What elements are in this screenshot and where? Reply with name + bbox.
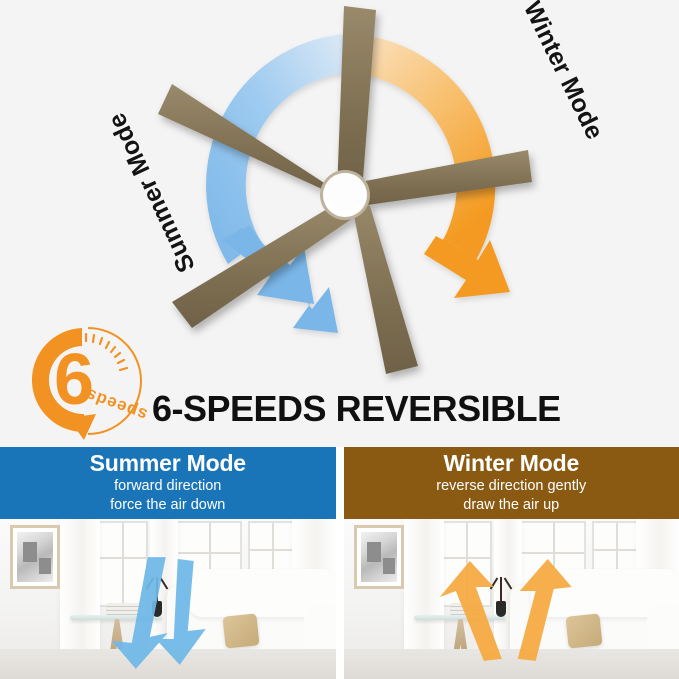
- fan-hub: [320, 170, 370, 220]
- summer-banner-subtitle-1: forward direction: [114, 478, 221, 495]
- mode-panels: Summer Mode forward direction force the …: [0, 447, 679, 679]
- summer-banner-title: Summer Mode: [90, 451, 246, 476]
- summer-room-photo: [0, 519, 336, 679]
- page-title: 6-SPEEDS REVERSIBLE: [152, 388, 561, 430]
- summer-mode-panel: Summer Mode forward direction force the …: [0, 447, 336, 679]
- winter-banner-title: Winter Mode: [443, 451, 579, 476]
- fan-ring-graphic: [118, 0, 570, 392]
- summer-banner-subtitle-2: force the air down: [110, 497, 225, 514]
- summer-banner: Summer Mode forward direction force the …: [0, 447, 336, 519]
- summer-airflow-arrows: [0, 519, 336, 679]
- fan-diagram: Summer Mode Winter Mode: [118, 0, 570, 392]
- speeds-number: 6: [54, 344, 94, 416]
- winter-banner-subtitle-2: draw the air up: [463, 497, 559, 514]
- winter-room-photo: [344, 519, 679, 679]
- winter-airflow-arrows: [344, 519, 679, 679]
- winter-banner-subtitle-1: reverse direction gently: [436, 478, 586, 495]
- hero-section: Summer Mode Winter Mode 6 speeds: [0, 0, 679, 443]
- six-speeds-badge: 6 speeds: [24, 322, 146, 440]
- winter-banner: Winter Mode reverse direction gently dra…: [344, 447, 679, 519]
- winter-mode-panel: Winter Mode reverse direction gently dra…: [344, 447, 679, 679]
